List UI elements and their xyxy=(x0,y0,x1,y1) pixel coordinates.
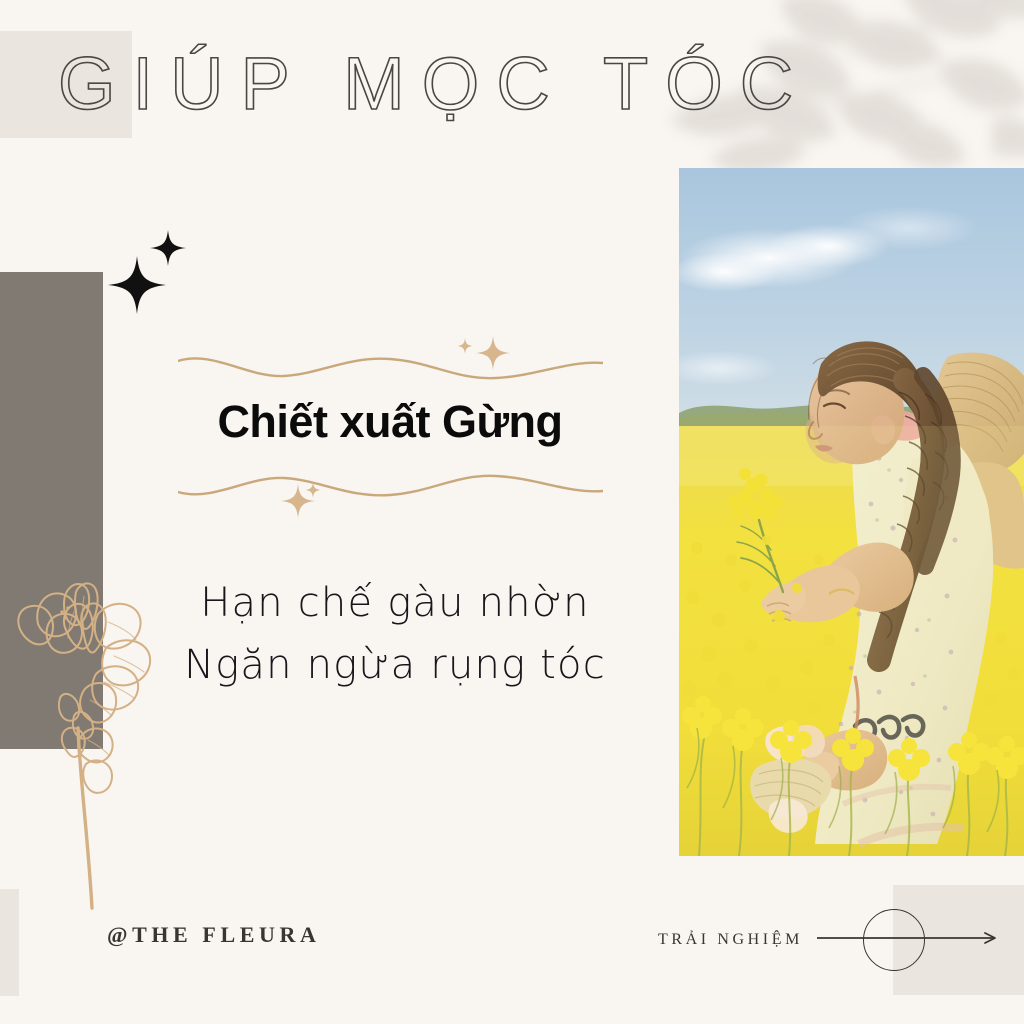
benefit-item: Ngăn ngừa rụng tóc xyxy=(130,634,660,696)
benefit-item: Hạn chế gàu nhờn xyxy=(130,572,660,634)
brand-handle: @THE FLEURA xyxy=(107,922,320,948)
cta-label: TRẢI NGHIỆM xyxy=(658,931,803,949)
wave-divider-icon xyxy=(178,470,603,504)
wave-divider-icon xyxy=(178,352,603,386)
magnolia-branch-icon xyxy=(8,578,173,918)
circle-outline-icon[interactable] xyxy=(863,909,925,971)
sparkle-icon xyxy=(150,230,186,266)
product-title: Chiết xuất Gừng xyxy=(170,396,610,448)
sparkle-icon xyxy=(476,336,510,370)
page-title: GIÚP MỌC TÓC xyxy=(58,36,810,132)
hero-photo xyxy=(679,168,1024,856)
benefit-list: Hạn chế gàu nhờn Ngăn ngừa rụng tóc xyxy=(130,572,660,696)
poster-canvas: GIÚP MỌC TÓC Chiết xuất Gừng xyxy=(0,0,1024,1024)
sparkle-icon xyxy=(305,482,321,498)
product-title-block: Chiết xuất Gừng xyxy=(170,348,610,508)
sparkle-icon xyxy=(457,338,473,354)
cta-button[interactable]: TRẢI NGHIỆM xyxy=(658,920,1007,960)
